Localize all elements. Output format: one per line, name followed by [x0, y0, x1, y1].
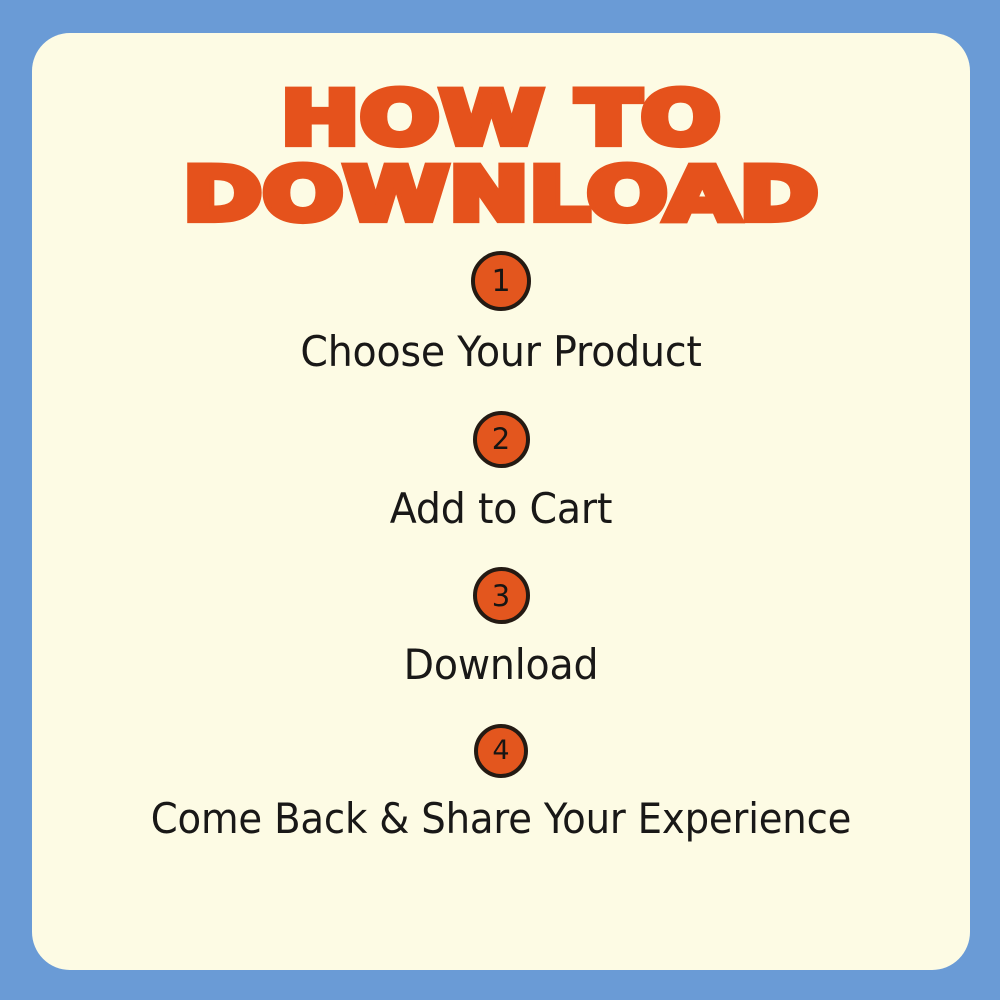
- step-number-badge-3: 3: [473, 567, 530, 624]
- step-number-badge-2: 2: [473, 411, 530, 468]
- step-number-badge-1: 1: [471, 251, 531, 311]
- step-number-badge-4: 4: [474, 724, 528, 778]
- step-label-4: Come Back & Share Your Experience: [70, 797, 933, 842]
- list-item: 3 Download: [32, 567, 970, 688]
- page-title-line-1: HOW TO: [32, 84, 970, 152]
- step-label-3: Download: [60, 643, 942, 688]
- list-item: 1 Choose Your Product: [32, 251, 970, 375]
- steps-list: 1 Choose Your Product 2 Add to Cart 3 Do…: [32, 251, 970, 877]
- page-title: HOW TO DOWNLOAD: [32, 85, 970, 227]
- step-label-1: Choose Your Product: [60, 330, 942, 375]
- poster-frame: HOW TO DOWNLOAD 1 Choose Your Product 2 …: [0, 0, 1000, 1000]
- list-item: 4 Come Back & Share Your Experience: [32, 724, 970, 842]
- page-title-line-2: DOWNLOAD: [32, 161, 970, 229]
- list-item: 2 Add to Cart: [32, 411, 970, 532]
- step-label-2: Add to Cart: [60, 487, 942, 532]
- poster-card: HOW TO DOWNLOAD 1 Choose Your Product 2 …: [32, 33, 970, 970]
